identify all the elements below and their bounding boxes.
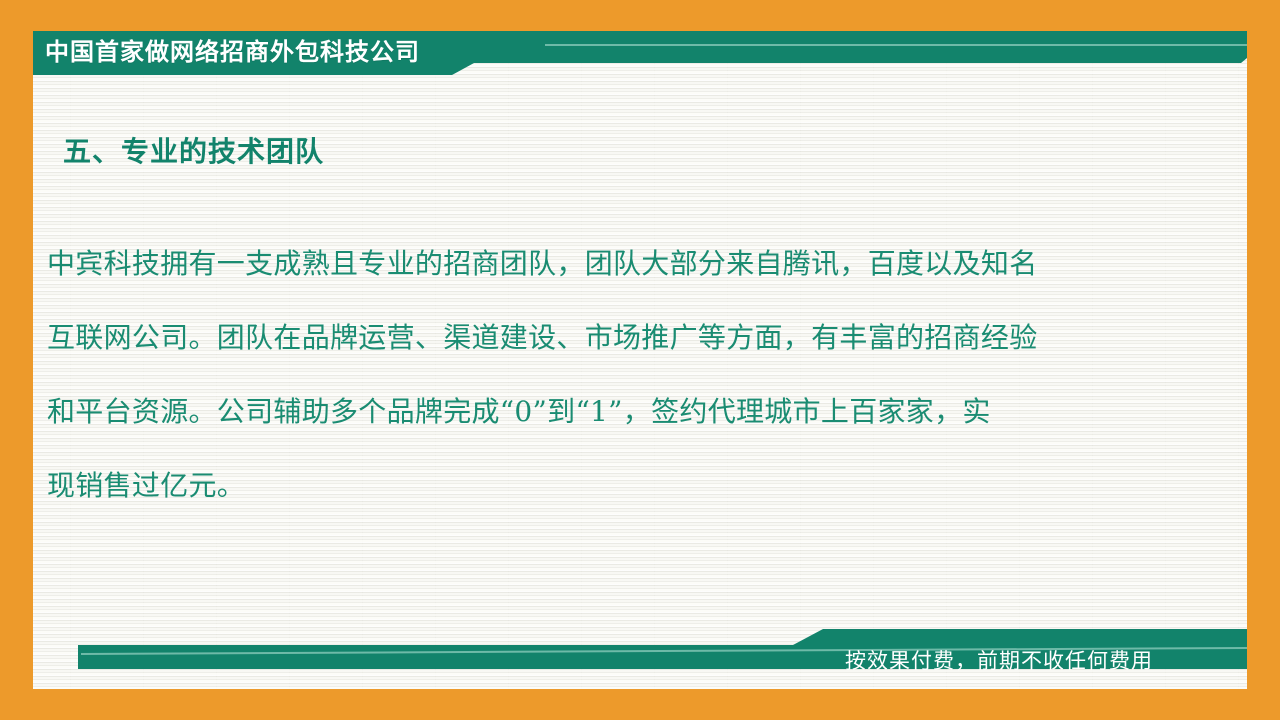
paragraph-line-2: 互联网公司。团队在品牌运营、渠道建设、市场推广等方面，有丰富的招商经验	[47, 301, 1197, 375]
paragraph-line-4: 现销售过亿元。	[47, 449, 1197, 523]
slide-canvas: 中国首家做网络招商外包科技公司 五、专业的技术团队 中宾科技拥有一支成熟且专业的…	[0, 0, 1280, 720]
header-band-hairline	[545, 44, 1247, 46]
body-paragraph: 中宾科技拥有一支成熟且专业的招商团队，团队大部分来自腾讯，百度以及知名 互联网公…	[47, 227, 1197, 523]
header-title: 中国首家做网络招商外包科技公司	[45, 38, 420, 68]
content-area: 五、专业的技术团队 中宾科技拥有一支成熟且专业的招商团队，团队大部分来自腾讯，百…	[33, 75, 1247, 620]
paragraph-line-3: 和平台资源。公司辅助多个品牌完成“0”到“1”，签约代理城市上百家家，实	[47, 375, 1197, 449]
footer-tagline: 按效果付费，前期不收任何费用	[845, 648, 1153, 676]
paragraph-line-1: 中宾科技拥有一支成熟且专业的招商团队，团队大部分来自腾讯，百度以及知名	[47, 227, 1197, 301]
section-heading: 五、专业的技术团队	[63, 133, 324, 171]
